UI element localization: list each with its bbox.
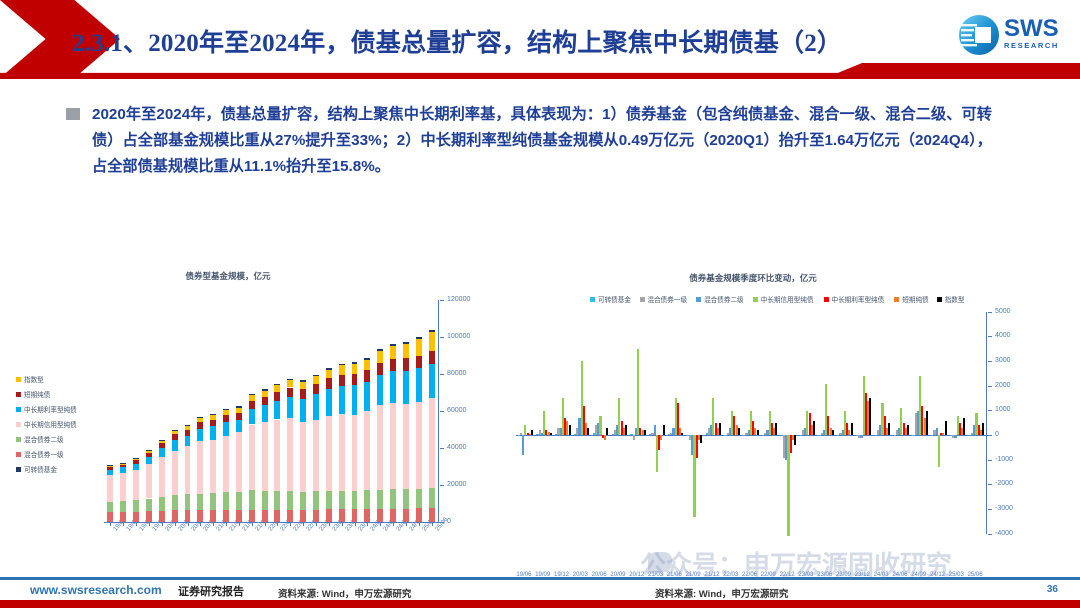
legend-label-0: 可转债基金 xyxy=(598,294,631,304)
left-chart-bar-segment xyxy=(197,422,203,429)
legend-swatch-3 xyxy=(753,297,758,302)
legend-swatch-6 xyxy=(16,467,21,472)
left-chart-bar-segment xyxy=(326,368,332,370)
legend-swatch-0 xyxy=(590,297,595,302)
right-chart-legend-item: 短期纯债 xyxy=(894,294,928,304)
left-chart-bar-segment xyxy=(300,389,306,398)
left-chart-bar-segment xyxy=(223,410,229,415)
left-chart-bar-segment xyxy=(313,510,319,522)
right-chart-bar xyxy=(888,423,890,435)
right-chart-bar xyxy=(938,435,940,467)
left-chart-x-tick xyxy=(406,523,407,526)
left-chart-bar-segment xyxy=(403,342,409,344)
left-chart-bar-segment xyxy=(210,440,216,494)
right-chart-bar xyxy=(954,435,956,437)
left-chart-bar-segment xyxy=(146,451,152,453)
left-chart-bar-segment xyxy=(146,450,152,451)
left-chart-bar-segment xyxy=(352,509,358,522)
left-chart-bar-segment xyxy=(249,490,255,509)
left-chart-bar-segment xyxy=(416,402,422,489)
left-chart-bar-segment xyxy=(249,425,255,491)
left-chart-bar-segment xyxy=(390,489,396,509)
right-chart-y-label: 5000 xyxy=(995,308,1011,315)
left-chart-bar-segment xyxy=(223,492,229,510)
right-chart-y-label: -2000 xyxy=(995,480,1013,487)
left-chart-bar-segment xyxy=(364,411,370,491)
right-chart-bar xyxy=(700,435,702,442)
left-chart-bar-segment xyxy=(377,405,383,489)
left-chart-bar-segment xyxy=(159,497,165,511)
legend-swatch-1 xyxy=(16,392,21,397)
left-chart-bar-segment xyxy=(339,386,345,415)
right-chart-bar xyxy=(633,435,635,440)
left-chart-bar-segment xyxy=(197,417,203,418)
left-chart-bar-segment xyxy=(390,344,396,346)
left-chart-bar-segment xyxy=(377,363,383,375)
legend-label-3: 中长期信用型纯债 xyxy=(24,419,77,429)
left-chart-bar-segment xyxy=(403,358,409,371)
right-chart-y-label: 1000 xyxy=(995,406,1011,413)
left-chart-legend-item: 可转债基金 xyxy=(16,464,57,474)
left-chart-bar-segment xyxy=(146,453,152,457)
left-chart-bar-segment xyxy=(159,457,165,497)
left-chart-bar-segment xyxy=(364,509,370,522)
right-chart-y-label: 0 xyxy=(995,431,999,438)
left-chart-x-tick xyxy=(136,523,137,526)
right-chart-y-label: -4000 xyxy=(995,530,1013,537)
left-chart-bar-segment xyxy=(185,494,191,510)
left-chart-bar-segment xyxy=(210,415,216,419)
left-chart-x-tick xyxy=(380,523,381,526)
left-chart-y-label: 40000 xyxy=(447,444,466,451)
right-chart-y-label: 2000 xyxy=(995,382,1011,389)
right-chart-bar xyxy=(963,418,965,435)
left-chart-bar-segment xyxy=(416,489,422,509)
left-chart-bar-segment xyxy=(416,339,422,356)
left-chart-bar-segment xyxy=(377,490,383,509)
right-chart-y-tick xyxy=(988,484,992,485)
left-chart-bar-segment xyxy=(429,364,435,398)
footer-divider xyxy=(0,577,1080,580)
left-chart-bar-segment xyxy=(390,359,396,371)
left-chart-bar-segment xyxy=(120,465,126,468)
left-chart-bar-segment xyxy=(210,493,216,510)
left-chart-bar-segment xyxy=(172,440,178,450)
right-chart-legend-item: 中长期利率型纯债 xyxy=(824,294,885,304)
left-chart-bar-segment xyxy=(223,436,229,492)
left-chart-bar-segment xyxy=(249,409,255,425)
left-chart-bar-segment xyxy=(133,460,139,463)
left-chart-bar-segment xyxy=(120,512,126,522)
legend-label-2: 中长期利率型纯债 xyxy=(24,404,77,414)
left-chart-bar-segment xyxy=(159,511,165,522)
left-chart-x-tick xyxy=(342,523,343,526)
left-chart-bar-segment xyxy=(120,501,126,512)
right-chart-bar xyxy=(982,423,984,435)
left-chart-bar-segment xyxy=(313,375,319,377)
left-chart-bar-segment xyxy=(429,330,435,332)
left-chart-bar-segment xyxy=(313,491,319,509)
right-chart-bar xyxy=(907,425,909,435)
logo-subtext: RESEARCH xyxy=(1004,41,1059,50)
footer-website-link[interactable]: www.swsresearch.com xyxy=(30,583,162,597)
right-chart-bar xyxy=(663,425,665,435)
left-chart-bar-segment xyxy=(133,458,139,459)
right-chart-bar xyxy=(654,425,656,435)
left-chart-bar-segment xyxy=(249,394,255,396)
right-chart-y-label: 4000 xyxy=(995,332,1011,339)
left-chart-bar-segment xyxy=(390,509,396,522)
left-chart-bar-segment xyxy=(197,441,203,494)
left-chart-y-tick xyxy=(440,374,444,375)
right-chart-bar xyxy=(531,430,533,435)
left-chart-bar-segment xyxy=(223,409,229,410)
right-chart-y-tick xyxy=(988,361,992,362)
left-chart-bar-segment xyxy=(210,414,216,415)
left-chart-bar-segment xyxy=(364,358,370,360)
left-chart-bar-segment xyxy=(377,349,383,351)
legend-swatch-0 xyxy=(16,377,21,382)
left-chart-bar-segment xyxy=(197,429,203,441)
footer-red-bar xyxy=(0,600,1080,608)
left-chart-bar-segment xyxy=(262,405,268,422)
left-chart-bar-segment xyxy=(249,395,255,401)
left-chart-bar-segment xyxy=(159,443,165,448)
left-chart-bar-segment xyxy=(339,491,345,509)
left-chart-bar-segment xyxy=(339,414,345,491)
left-chart-bar-segment xyxy=(390,371,396,403)
wechat-icon xyxy=(648,552,672,572)
left-chart-bar-segment xyxy=(326,416,332,491)
left-chart-x-tick xyxy=(432,523,433,526)
right-chart-y-tick xyxy=(988,435,992,436)
right-chart-y-tick xyxy=(988,386,992,387)
left-chart-bar-segment xyxy=(236,510,242,522)
left-chart-y-label: 60000 xyxy=(447,407,466,414)
left-chart-x-tick xyxy=(188,523,189,526)
left-chart-bar-segment xyxy=(172,434,178,440)
right-chart-bar xyxy=(775,423,777,435)
left-chart-bar-segment xyxy=(262,510,268,522)
legend-label-6: 指数型 xyxy=(945,294,965,304)
page-number: 36 xyxy=(1047,584,1058,595)
legend-label-5: 混合债券一级 xyxy=(24,449,64,459)
left-chart-bar-segment xyxy=(274,491,280,510)
left-chart-bar-segment xyxy=(172,510,178,522)
legend-label-6: 可转债基金 xyxy=(24,464,57,474)
left-chart-y-label: 80000 xyxy=(447,370,466,377)
legend-label-3: 中长期信用型纯债 xyxy=(761,294,814,304)
left-chart-bar-segment xyxy=(429,398,435,488)
right-chart-bar xyxy=(606,428,608,435)
left-chart-x-tick xyxy=(213,523,214,526)
left-chart-bar-segment xyxy=(429,351,435,364)
legend-swatch-4 xyxy=(824,297,829,302)
left-chart-bar-segment xyxy=(274,392,280,401)
left-chart-bar-segment xyxy=(236,413,242,420)
left-chart-bar-segment xyxy=(107,512,113,522)
left-chart-x-tick xyxy=(277,523,278,526)
right-chart-y-tick xyxy=(988,534,992,535)
left-chart-bar-segment xyxy=(364,490,370,509)
right-chart-bar xyxy=(550,433,552,435)
legend-label-0: 指数型 xyxy=(24,374,44,384)
left-chart-bar-segment xyxy=(300,382,306,390)
right-chart-bar xyxy=(587,428,589,435)
left-chart-bar-segment xyxy=(429,332,435,352)
page-title: 2.3.1、2020年至2024年，债基总量扩容，结构上聚焦中长期债基（2） xyxy=(72,18,942,64)
left-chart-bar-segment xyxy=(326,378,332,388)
left-chart-bar-segment xyxy=(172,495,178,510)
left-chart-bar-segment xyxy=(197,510,203,522)
right-chart-legend-item: 指数型 xyxy=(937,294,965,304)
sws-logo-icon xyxy=(958,14,1000,56)
left-chart-bar-segment xyxy=(146,464,152,498)
left-chart-bar-segment xyxy=(300,399,306,423)
left-chart-bar-segment xyxy=(120,463,126,464)
right-chart-legend-item: 混合债券二级 xyxy=(696,294,744,304)
left-chart-title: 债券型基金规模，亿元 xyxy=(58,270,398,282)
left-chart-bar-segment xyxy=(352,374,358,385)
left-chart-bar-segment xyxy=(236,432,242,491)
left-chart-x-tick xyxy=(123,523,124,526)
left-chart-x-tick xyxy=(329,523,330,526)
legend-swatch-5 xyxy=(16,452,21,457)
left-chart-bar-segment xyxy=(236,492,242,510)
left-chart-x-tick xyxy=(419,523,420,526)
left-chart-bar-segment xyxy=(185,510,191,522)
left-chart-bar-segment xyxy=(133,459,139,461)
left-chart-bar-segment xyxy=(287,380,293,387)
left-chart-bar-segment xyxy=(300,492,306,510)
left-chart-bar-segment xyxy=(287,379,293,381)
left-chart-x-tick xyxy=(110,523,111,526)
left-chart-bar-segment xyxy=(133,470,139,501)
left-chart-bar-segment xyxy=(159,440,165,441)
left-chart-bar-segment xyxy=(172,430,178,431)
left-chart-bar-segment xyxy=(159,441,165,444)
left-chart-bar-segment xyxy=(300,510,306,522)
left-chart-bar-segment xyxy=(107,465,113,466)
sws-logo: SWS RESEARCH xyxy=(958,12,1066,60)
right-chart-y-tick xyxy=(988,410,992,411)
right-chart-y-label: -3000 xyxy=(995,505,1013,512)
left-chart-x-tick xyxy=(290,523,291,526)
left-chart-y-tick xyxy=(440,448,444,449)
right-chart-bar xyxy=(869,398,871,435)
left-chart-bar-segment xyxy=(107,502,113,512)
left-chart-bar-segment xyxy=(185,425,191,426)
right-chart-bar xyxy=(604,435,606,440)
left-chart-bar-segment xyxy=(107,466,113,467)
left-chart-bar-segment xyxy=(364,360,370,371)
left-chart-bar-segment xyxy=(326,491,332,509)
chart-bond-fund-qoq-change: 债券基金规模季度环比变动，亿元可转债基金混合债券一级混合债券二级中长期信用型纯债… xyxy=(508,262,1074,562)
right-chart-bar xyxy=(738,428,740,435)
right-chart-bar xyxy=(599,416,601,436)
right-chart-bar xyxy=(945,421,947,436)
left-chart-bar-segment xyxy=(313,420,319,491)
legend-label-5: 短期纯债 xyxy=(902,294,928,304)
left-chart-bar-segment xyxy=(390,403,396,489)
left-chart-bar-segment xyxy=(390,346,396,359)
right-chart-legend-item: 混合债券一级 xyxy=(640,294,688,304)
left-chart-bar-segment xyxy=(172,451,178,495)
right-chart-bar xyxy=(762,435,764,436)
left-chart-bar-segment xyxy=(429,488,435,508)
left-chart-x-tick xyxy=(393,523,394,526)
left-chart-bar-segment xyxy=(352,385,358,415)
left-chart-bar-segment xyxy=(262,491,268,510)
left-chart-bar-segment xyxy=(185,446,191,494)
left-chart-bar-segment xyxy=(403,344,409,359)
left-chart-bar-segment xyxy=(339,509,345,522)
left-chart-bar-segment xyxy=(262,391,268,397)
left-chart-bar-segment xyxy=(262,389,268,391)
left-chart-bar-segment xyxy=(300,422,306,491)
left-chart-bar-segment xyxy=(107,475,113,502)
left-chart-bar-segment xyxy=(146,457,152,465)
legend-swatch-4 xyxy=(16,437,21,442)
left-chart-x-tick xyxy=(226,523,227,526)
left-chart-bar-segment xyxy=(416,337,422,339)
left-chart-bar-segment xyxy=(287,510,293,522)
left-chart-bar-segment xyxy=(403,509,409,522)
left-chart-bar-segment xyxy=(339,364,345,366)
left-chart-x-tick xyxy=(367,523,368,526)
left-chart-bar-segment xyxy=(185,436,191,446)
right-chart-bar xyxy=(860,435,862,437)
legend-swatch-1 xyxy=(640,297,645,302)
left-chart-x-tick xyxy=(252,523,253,526)
left-chart-bar-segment xyxy=(326,389,332,416)
left-chart-bar-segment xyxy=(313,376,319,384)
left-chart-bar-segment xyxy=(262,397,268,405)
left-chart-bar-segment xyxy=(107,470,113,475)
right-chart-y-tick xyxy=(988,312,992,313)
right-chart-bar xyxy=(813,421,815,436)
right-chart-y-axis xyxy=(986,312,987,534)
left-chart-bar-segment xyxy=(352,364,358,374)
logo-wordmark: SWS xyxy=(1004,17,1059,41)
left-chart-bar-segment xyxy=(172,431,178,434)
left-chart-bar-segment xyxy=(429,508,435,522)
left-chart-bar-segment xyxy=(339,375,345,386)
left-chart-x-tick xyxy=(265,523,266,526)
left-chart-bar-segment xyxy=(107,467,113,470)
left-chart-bar-segment xyxy=(403,404,409,489)
right-chart-y-tick xyxy=(988,336,992,337)
right-chart-bar xyxy=(660,435,662,440)
slide-header: 2.3.1、2020年至2024年，债基总量扩容，结构上聚焦中长期债基（2） S… xyxy=(0,0,1080,84)
left-chart-x-tick xyxy=(239,523,240,526)
left-chart-bar-segment xyxy=(210,420,216,426)
right-chart-title: 债券基金规模季度环比变动，亿元 xyxy=(538,272,968,284)
left-chart-bar-segment xyxy=(364,370,370,381)
left-chart-legend-item: 中长期利率型纯债 xyxy=(16,404,77,414)
left-chart-bar-segment xyxy=(287,491,293,510)
left-chart-bar-segment xyxy=(403,489,409,509)
left-chart-bar-segment xyxy=(236,406,242,408)
left-chart-bar-segment xyxy=(146,499,152,512)
left-chart-bar-segment xyxy=(313,394,319,420)
legend-label-1: 混合债券一级 xyxy=(648,294,688,304)
left-chart-x-tick xyxy=(316,523,317,526)
header-red-bar xyxy=(0,63,1080,79)
right-chart-bar xyxy=(926,411,928,436)
right-chart-bar xyxy=(637,349,639,435)
left-chart-bar-segment xyxy=(133,464,139,470)
left-chart-bar-segment xyxy=(274,401,280,420)
right-chart-y-label: 3000 xyxy=(995,357,1011,364)
right-chart-bar xyxy=(681,433,683,435)
left-chart-y-label: 120000 xyxy=(447,296,470,303)
left-chart-bar-segment xyxy=(339,365,345,374)
left-chart-legend-item: 短期纯债 xyxy=(16,389,50,399)
left-chart-bar-segment xyxy=(300,380,306,381)
left-chart-bar-segment xyxy=(287,397,293,418)
right-chart-bar xyxy=(757,430,759,435)
body-paragraph: 2020年至2024年，债基总量扩容，结构上聚焦中长期利率基，具体表现为：1）债… xyxy=(92,102,992,180)
left-chart-bar-segment xyxy=(313,384,319,394)
right-chart-bar xyxy=(936,428,938,435)
left-chart-bar-segment xyxy=(249,510,255,522)
right-chart-bar xyxy=(832,430,834,435)
left-chart-bar-segment xyxy=(159,448,165,457)
legend-label-4: 中长期利率型纯债 xyxy=(832,294,885,304)
left-chart-bar-segment xyxy=(146,511,152,522)
left-chart-bar-segment xyxy=(133,500,139,511)
left-chart-legend-item: 指数型 xyxy=(16,374,44,384)
legend-swatch-6 xyxy=(937,297,942,302)
left-chart-bar-segment xyxy=(197,418,203,422)
left-chart-legend-item: 中长期信用型纯债 xyxy=(16,419,77,429)
left-chart-x-tick xyxy=(355,523,356,526)
legend-label-1: 短期纯债 xyxy=(24,389,50,399)
left-chart-bar-segment xyxy=(352,415,358,491)
legend-swatch-3 xyxy=(16,422,21,427)
left-chart-bar-segment xyxy=(326,370,332,379)
left-chart-x-tick xyxy=(149,523,150,526)
left-chart-y-label: 100000 xyxy=(447,333,470,340)
chart-bond-fund-scale: 债券型基金规模，亿元020000400006000080000100000120… xyxy=(8,262,513,562)
left-chart-bar-segment xyxy=(185,426,191,430)
left-chart-bar-segment xyxy=(274,384,280,386)
left-chart-bar-segment xyxy=(274,420,280,491)
right-chart-legend-item: 可转债基金 xyxy=(590,294,631,304)
left-chart-bar-segment xyxy=(274,385,280,392)
left-chart-legend-item: 混合债券二级 xyxy=(16,434,64,444)
left-chart-bar-segment xyxy=(223,415,229,422)
right-chart-bar xyxy=(522,435,524,455)
left-chart-x-tick xyxy=(175,523,176,526)
right-chart-bar xyxy=(644,430,646,435)
left-chart-bar-segment xyxy=(352,362,358,364)
right-chart-bar xyxy=(851,423,853,435)
right-chart-y-tick xyxy=(988,509,992,510)
left-chart-y-tick xyxy=(440,337,444,338)
left-chart-x-tick xyxy=(162,523,163,526)
left-chart-bar-segment xyxy=(120,473,126,502)
right-chart-bar xyxy=(724,435,726,436)
source-note-right: 资料来源: Wind，申万宏源研究 xyxy=(655,586,788,600)
left-chart-bar-segment xyxy=(223,422,229,436)
legend-swatch-2 xyxy=(16,407,21,412)
source-note-left: 资料来源: Wind，申万宏源研究 xyxy=(278,586,411,600)
left-chart-bar-segment xyxy=(236,420,242,433)
left-chart-y-tick xyxy=(440,411,444,412)
left-chart-bar-segment xyxy=(403,371,409,404)
